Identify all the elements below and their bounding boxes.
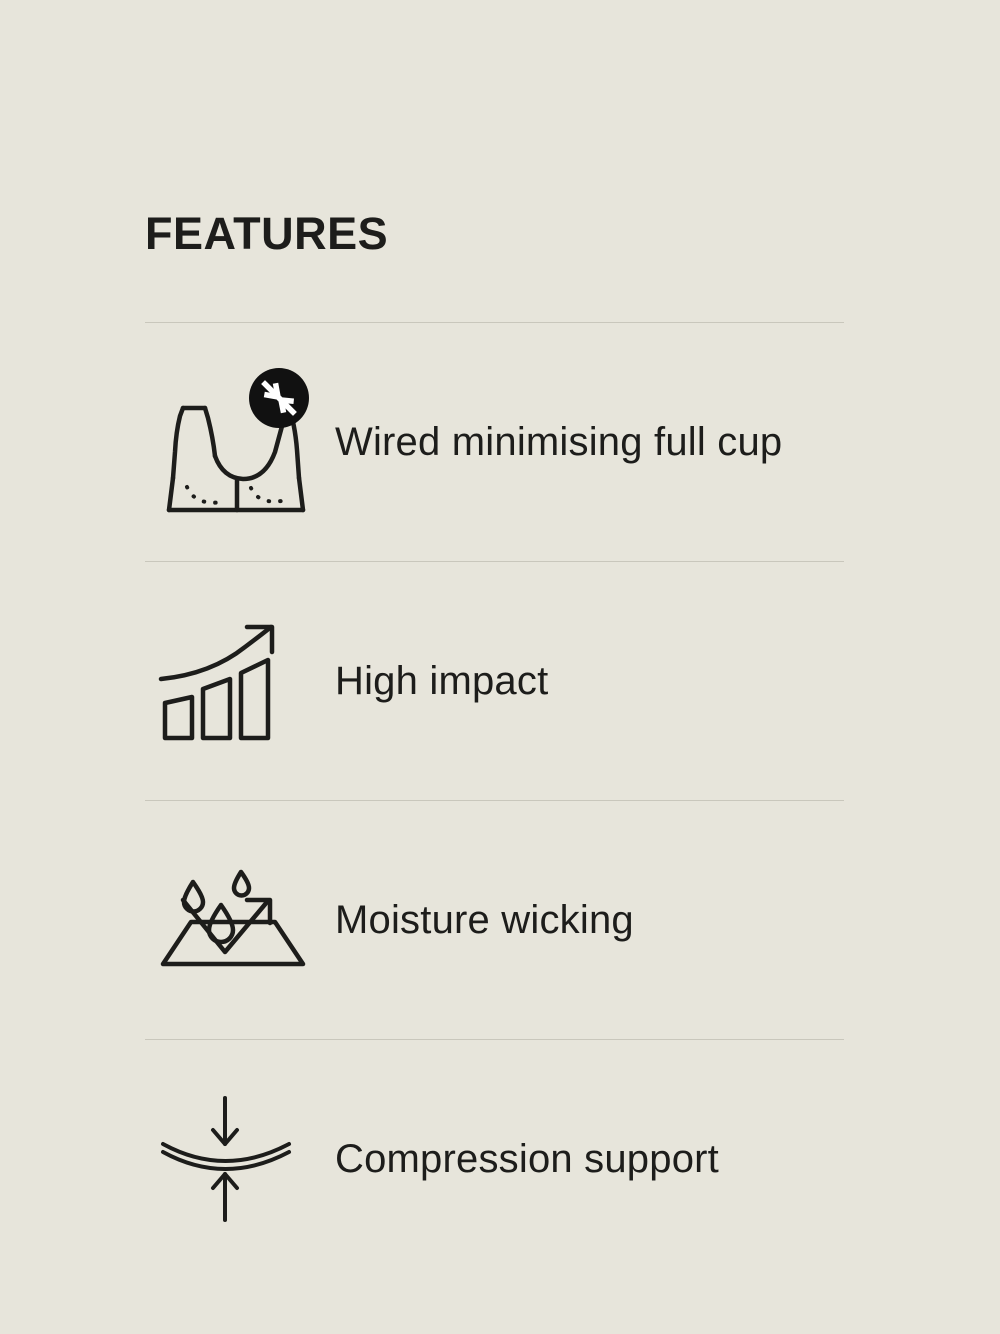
feature-label: Moisture wicking: [335, 897, 634, 943]
arrows-inward-badge: [249, 368, 309, 428]
bra-minimising-icon: [145, 347, 335, 537]
water-droplets-fabric-icon: [145, 825, 335, 1015]
feature-list: Wired minimising full cup: [145, 322, 844, 1278]
compression-arrows-icon: [145, 1064, 335, 1254]
list-item[interactable]: Compression support: [145, 1039, 844, 1278]
feature-label: High impact: [335, 658, 548, 704]
feature-label: Compression support: [335, 1136, 719, 1182]
page-title: FEATURES: [145, 208, 388, 260]
bar-chart-rising-arrow-icon: [145, 586, 335, 776]
features-page: FEATURES: [0, 0, 1000, 1334]
list-item[interactable]: Wired minimising full cup: [145, 322, 844, 561]
feature-label: Wired minimising full cup: [335, 419, 782, 465]
list-item[interactable]: Moisture wicking: [145, 800, 844, 1039]
list-item[interactable]: High impact: [145, 561, 844, 800]
